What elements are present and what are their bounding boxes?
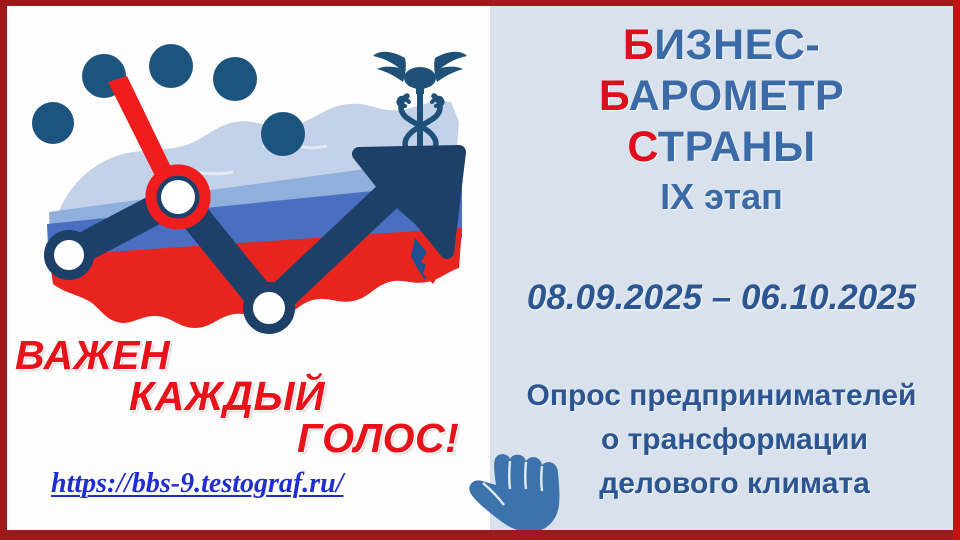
frame-left-border	[0, 0, 7, 540]
headline-cap-1: Б	[623, 21, 654, 69]
pointing-hand-icon	[462, 437, 572, 537]
headline-line-1: БИЗНЕС-	[490, 20, 953, 71]
headline-rest-3: ТРАНЫ	[658, 123, 816, 171]
chart-node	[49, 235, 89, 275]
headline-cap-3: С	[627, 123, 657, 171]
barometer-map-artwork	[7, 6, 490, 366]
frame-right-border	[953, 0, 960, 540]
headline-cap-2: Б	[599, 72, 629, 120]
slogan-line-2: КАЖДЫЙ	[129, 377, 490, 416]
gauge-dot	[213, 57, 257, 101]
stage-label: IX этап	[490, 173, 953, 221]
headline-block: БИЗНЕС- БАРОМЕТР СТРАНЫ IX этап	[490, 20, 953, 221]
gauge-dot	[149, 44, 193, 88]
headline-line-2: БАРОМЕТР	[490, 71, 953, 122]
gauge-dot	[261, 112, 305, 156]
headline-rest-1: ИЗНЕС-	[654, 21, 820, 69]
frame-top-border	[0, 0, 960, 6]
survey-url-link[interactable]: https://bbs-9.testograf.ru/	[51, 468, 343, 500]
gauge-dots	[32, 44, 305, 156]
survey-date-range: 08.09.2025 – 06.10.2025	[490, 278, 953, 318]
frame-bottom-border	[0, 530, 960, 540]
chart-node	[248, 287, 290, 329]
subtitle-line-1: Опрос предпринимателей	[490, 374, 953, 418]
gauge-dot	[32, 102, 74, 144]
headline-rest-2: АРОМЕТР	[629, 72, 845, 120]
left-graphic-panel: ВАЖЕН КАЖДЫЙ ГОЛОС! https://bbs-9.testog…	[7, 6, 490, 530]
promo-banner: ВАЖЕН КАЖДЫЙ ГОЛОС! https://bbs-9.testog…	[0, 0, 960, 540]
headline-line-3: СТРАНЫ	[490, 122, 953, 173]
